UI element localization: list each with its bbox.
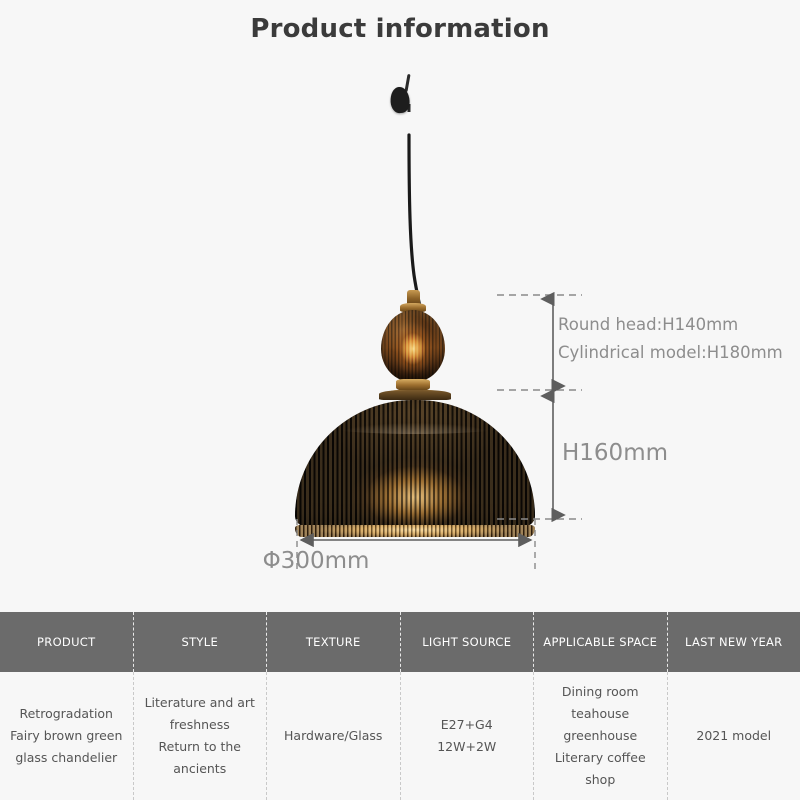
- dimension-diameter: Φ300mm: [263, 548, 370, 574]
- dome-shade: [295, 390, 535, 537]
- product-information-page: Product information: [0, 0, 800, 800]
- table-cell-last-new-year: 2021 model: [667, 672, 800, 800]
- specification-table: PRODUCT STYLE TEXTURE LIGHT SOURCE APPLI…: [0, 612, 800, 800]
- table-header-product: PRODUCT: [0, 612, 133, 672]
- table-header-style: STYLE: [133, 612, 267, 672]
- table-header-applicable-space: APPLICABLE SPACE: [533, 612, 667, 672]
- table-cell-style: Literature and art freshness Return to t…: [133, 672, 267, 800]
- shade-glass: [295, 400, 535, 528]
- table-header-light-source: LIGHT SOURCE: [400, 612, 534, 672]
- globe-glass: [381, 310, 445, 382]
- table-cell-product: Retrogradation Fairy brown green glass c…: [0, 672, 133, 800]
- shade-bottom-rim: [295, 525, 535, 537]
- dimension-shade-height: H160mm: [562, 440, 668, 466]
- dimension-cylindrical-model: Cylindrical model:H180mm: [558, 343, 783, 362]
- page-title: Product information: [0, 14, 800, 44]
- table-header-row: PRODUCT STYLE TEXTURE LIGHT SOURCE APPLI…: [0, 612, 800, 672]
- round-head-globe: [381, 290, 445, 399]
- dimension-round-head: Round head:H140mm: [558, 315, 738, 334]
- table-cell-texture: Hardware/Glass: [266, 672, 400, 800]
- dimension-diameter-wrap: Φ300mm: [0, 548, 800, 574]
- table-header-texture: TEXTURE: [266, 612, 400, 672]
- table-cell-light-source: E27+G4 12W+2W: [400, 672, 534, 800]
- table-cell-applicable-space: Dining room teahouse greenhouse Literary…: [533, 672, 667, 800]
- globe-finial: [407, 290, 420, 304]
- table-header-last-new-year: LAST NEW YEAR: [667, 612, 800, 672]
- table-row: Retrogradation Fairy brown green glass c…: [0, 672, 800, 800]
- shade-top-fitting: [379, 390, 451, 400]
